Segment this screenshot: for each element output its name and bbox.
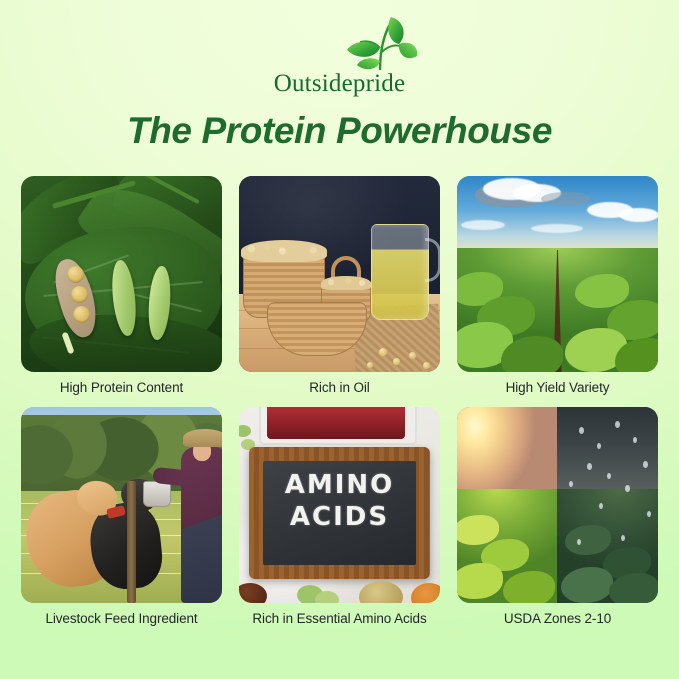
feature-caption: Rich in Essential Amino Acids <box>239 610 440 627</box>
brand-wordmark: Outsidepride <box>255 71 425 96</box>
feature-cell-high-yield-variety: High Yield Variety <box>457 176 658 396</box>
feature-caption: USDA Zones 2-10 <box>457 610 658 627</box>
chalkboard-text: AMINO ACIDS <box>263 469 416 533</box>
feature-cell-high-protein-content: High Protein Content <box>21 176 222 396</box>
plant-leaves-icon <box>333 14 419 74</box>
page-title: The Protein Powerhouse <box>0 108 679 154</box>
amino-acids-chalkboard-image: AMINO ACIDS <box>239 407 440 603</box>
feature-caption: High Yield Variety <box>457 379 658 396</box>
feature-caption: Rich in Oil <box>239 379 440 396</box>
soybean-field-rows-image <box>457 176 658 372</box>
sun-and-rain-field-image <box>457 407 658 603</box>
livestock-feeding-image <box>21 407 222 603</box>
soybean-pods-on-leaf-image <box>21 176 222 372</box>
brand-logo[interactable]: Outsidepride <box>0 14 679 98</box>
feature-caption: Livestock Feed Ingredient <box>21 610 222 627</box>
soybeans-and-oil-pitcher-image <box>239 176 440 372</box>
feature-caption: High Protein Content <box>21 379 222 396</box>
feature-cell-rich-in-essential-amino-acids: AMINO ACIDS Rich in Essential Amino Acid… <box>239 407 440 627</box>
feature-cell-rich-in-oil: Rich in Oil <box>239 176 440 396</box>
infographic-page: Outsidepride The Protein Powerhouse <box>0 0 679 679</box>
feature-cell-usda-zones: USDA Zones 2-10 <box>457 407 658 627</box>
feature-grid: High Protein Content <box>21 176 658 627</box>
feature-cell-livestock-feed-ingredient: Livestock Feed Ingredient <box>21 407 222 627</box>
